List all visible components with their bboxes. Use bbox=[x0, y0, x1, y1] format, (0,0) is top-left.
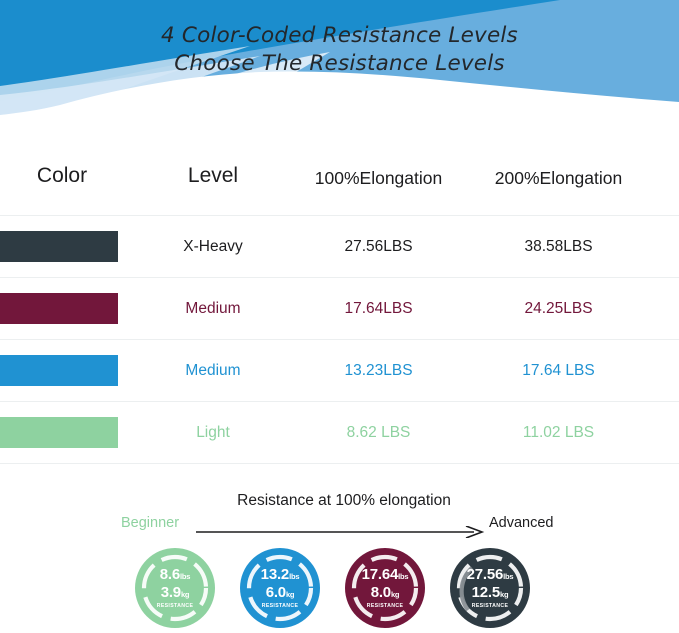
color-swatch bbox=[0, 231, 118, 262]
cell-elongation-100: 8.62 LBS bbox=[286, 402, 471, 463]
badge-kg-line: 3.9kg bbox=[161, 585, 190, 600]
badge-caption: RESISTANCE bbox=[157, 604, 194, 609]
arrow-right-icon bbox=[196, 526, 486, 538]
column-header-color: Color bbox=[0, 164, 124, 188]
badge-kg-line: 8.0kg bbox=[371, 585, 400, 600]
badge-kg-value: 3.9 bbox=[161, 584, 181, 601]
badge-kg-value: 12.5 bbox=[472, 584, 500, 601]
badge-kg-unit: kg bbox=[181, 590, 189, 599]
badge-kg-unit: kg bbox=[391, 590, 399, 599]
badge-lbs-value: 13.2 bbox=[261, 566, 289, 583]
table-header-row: Color Level 100%Elongation 200%Elongatio… bbox=[0, 115, 679, 215]
cell-elongation-100: 27.56LBS bbox=[286, 216, 471, 277]
header-title-line-2: Choose The Resistance Levels bbox=[0, 50, 679, 78]
cell-level: Light bbox=[150, 402, 276, 463]
scale-label-beginner: Beginner bbox=[121, 515, 195, 531]
badge-lbs-value: 17.64 bbox=[362, 566, 399, 583]
badge-text-group: 17.64lbs 8.0kg RESISTANCE bbox=[345, 548, 425, 628]
resistance-scale: Resistance at 100% elongation Beginner A… bbox=[0, 494, 679, 540]
badge-kg-value: 8.0 bbox=[371, 584, 391, 601]
cell-elongation-200: 17.64 LBS bbox=[466, 340, 651, 401]
color-swatch bbox=[0, 293, 118, 324]
badge-lbs-unit: lbs bbox=[398, 572, 408, 581]
badge-text-group: 13.2lbs 6.0kg RESISTANCE bbox=[240, 548, 320, 628]
table-row: X-Heavy 27.56LBS 38.58LBS bbox=[0, 215, 679, 277]
cell-elongation-100: 17.64LBS bbox=[286, 278, 471, 339]
cell-level: X-Heavy bbox=[150, 216, 276, 277]
badge-caption: RESISTANCE bbox=[367, 604, 404, 609]
table-row: Light 8.62 LBS 11.02 LBS bbox=[0, 401, 679, 464]
badge-lbs-unit: lbs bbox=[503, 572, 513, 581]
badge-lbs-line: 8.6lbs bbox=[160, 567, 191, 582]
badge-lbs-line: 13.2lbs bbox=[261, 567, 300, 582]
badge-caption: RESISTANCE bbox=[472, 604, 509, 609]
badge-lbs-line: 27.56lbs bbox=[467, 567, 514, 582]
scale-label-advanced: Advanced bbox=[489, 515, 579, 531]
badge-group: 8.6lbs 3.9kg RESISTANCE 13.2lbs 6.0kg RE… bbox=[0, 548, 679, 633]
badge-lbs-line: 17.64lbs bbox=[362, 567, 409, 582]
badge-kg-line: 6.0kg bbox=[266, 585, 295, 600]
resistance-badge: 8.6lbs 3.9kg RESISTANCE bbox=[135, 548, 215, 628]
cell-elongation-200: 11.02 LBS bbox=[466, 402, 651, 463]
column-header-elongation-100: 100%Elongation bbox=[286, 168, 471, 189]
color-swatch bbox=[0, 417, 118, 448]
resistance-badge: 27.56lbs 12.5kg RESISTANCE bbox=[450, 548, 530, 628]
header-banner: 4 Color-Coded Resistance Levels Choose T… bbox=[0, 0, 679, 115]
badge-kg-unit: kg bbox=[500, 590, 508, 599]
badge-caption: RESISTANCE bbox=[262, 604, 299, 609]
header-title-group: 4 Color-Coded Resistance Levels Choose T… bbox=[0, 22, 679, 79]
badge-text-group: 8.6lbs 3.9kg RESISTANCE bbox=[135, 548, 215, 628]
cell-level: Medium bbox=[150, 278, 276, 339]
color-swatch bbox=[0, 355, 118, 386]
column-header-elongation-200: 200%Elongation bbox=[466, 168, 651, 189]
badge-lbs-unit: lbs bbox=[289, 572, 299, 581]
column-header-level: Level bbox=[150, 164, 276, 188]
header-title-line-1: 4 Color-Coded Resistance Levels bbox=[0, 22, 679, 50]
badge-kg-value: 6.0 bbox=[266, 584, 286, 601]
resistance-badge: 17.64lbs 8.0kg RESISTANCE bbox=[345, 548, 425, 628]
badge-lbs-value: 27.56 bbox=[467, 566, 504, 583]
badge-lbs-unit: lbs bbox=[180, 572, 190, 581]
table-row: Medium 13.23LBS 17.64 LBS bbox=[0, 339, 679, 401]
badge-lbs-value: 8.6 bbox=[160, 566, 180, 583]
badge-kg-line: 12.5kg bbox=[472, 585, 509, 600]
cell-elongation-100: 13.23LBS bbox=[286, 340, 471, 401]
cell-level: Medium bbox=[150, 340, 276, 401]
resistance-badge: 13.2lbs 6.0kg RESISTANCE bbox=[240, 548, 320, 628]
scale-caption: Resistance at 100% elongation bbox=[184, 492, 504, 510]
resistance-table: Color Level 100%Elongation 200%Elongatio… bbox=[0, 115, 679, 464]
cell-elongation-200: 24.25LBS bbox=[466, 278, 651, 339]
badge-kg-unit: kg bbox=[286, 590, 294, 599]
cell-elongation-200: 38.58LBS bbox=[466, 216, 651, 277]
badge-text-group: 27.56lbs 12.5kg RESISTANCE bbox=[450, 548, 530, 628]
table-row: Medium 17.64LBS 24.25LBS bbox=[0, 277, 679, 339]
